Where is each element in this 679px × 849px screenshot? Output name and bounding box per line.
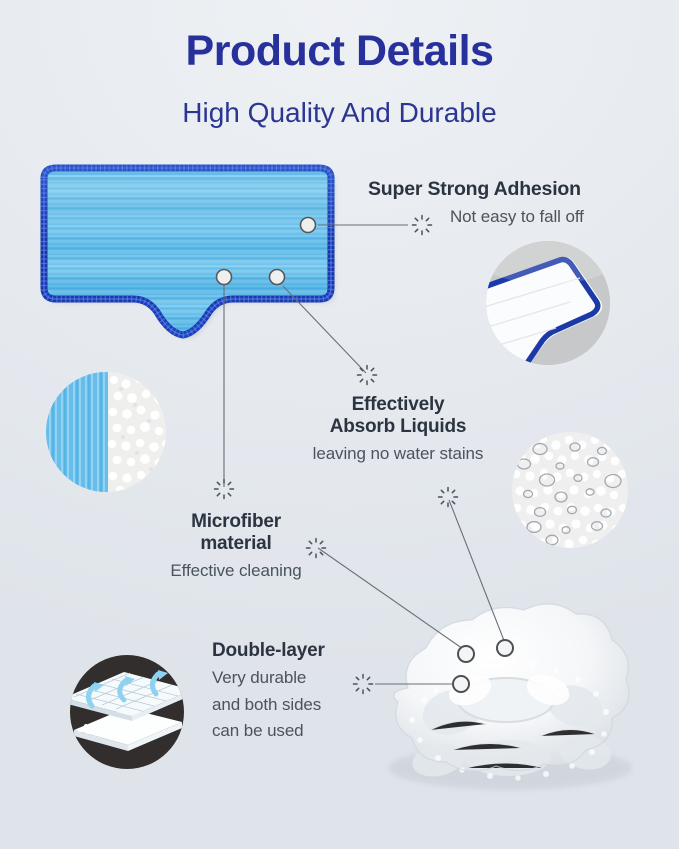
sparkle-icon-microfiber (213, 478, 235, 500)
callout-heading-absorb-line1: Effectively (300, 394, 496, 416)
marker-pad-absorb (270, 270, 285, 285)
sparkle-icon-double-layer (352, 673, 374, 695)
callout-sub-double-line2: and both sides (212, 694, 392, 715)
marker-cloth-double (453, 676, 469, 692)
callout-heading-double-layer: Double-layer (212, 640, 392, 662)
callout-heading-adhesion: Super Strong Adhesion (368, 178, 668, 201)
leader-line-micro-cloth (318, 548, 466, 651)
marker-cloth-microfiber (458, 646, 474, 662)
marker-pad-adhesion (301, 218, 316, 233)
sparkle-icon-adhesion (411, 214, 433, 236)
callout-sub-double-line3: can be used (212, 720, 392, 741)
sparkle-icon-absorb (356, 364, 378, 386)
callout-heading-microfiber-line1: Microfiber (140, 511, 332, 533)
leader-line-absorb-cloth (449, 500, 505, 643)
leader-line-absorb (283, 286, 366, 373)
marker-cloth-absorb (497, 640, 513, 656)
product-details-infographic: Product Details High Quality And Durable (0, 0, 679, 849)
callout-heading-absorb-line2: Absorb Liquids (300, 416, 496, 438)
callout-sub-adhesion: Not easy to fall off (450, 206, 668, 227)
callout-sub-microfiber: Effective cleaning (140, 560, 332, 581)
marker-pad-microfiber (217, 270, 232, 285)
sparkle-icon-microfiber-right (305, 537, 327, 559)
sparkle-icon-absorb-lower (437, 486, 459, 508)
callout-sub-absorb: leaving no water stains (300, 443, 496, 464)
callout-microfiber-material: Microfiber material Effective cleaning (140, 511, 332, 581)
callout-effectively-absorb-liquids: Effectively Absorb Liquids leaving no wa… (300, 394, 496, 464)
callout-heading-microfiber-line2: material (140, 533, 332, 555)
